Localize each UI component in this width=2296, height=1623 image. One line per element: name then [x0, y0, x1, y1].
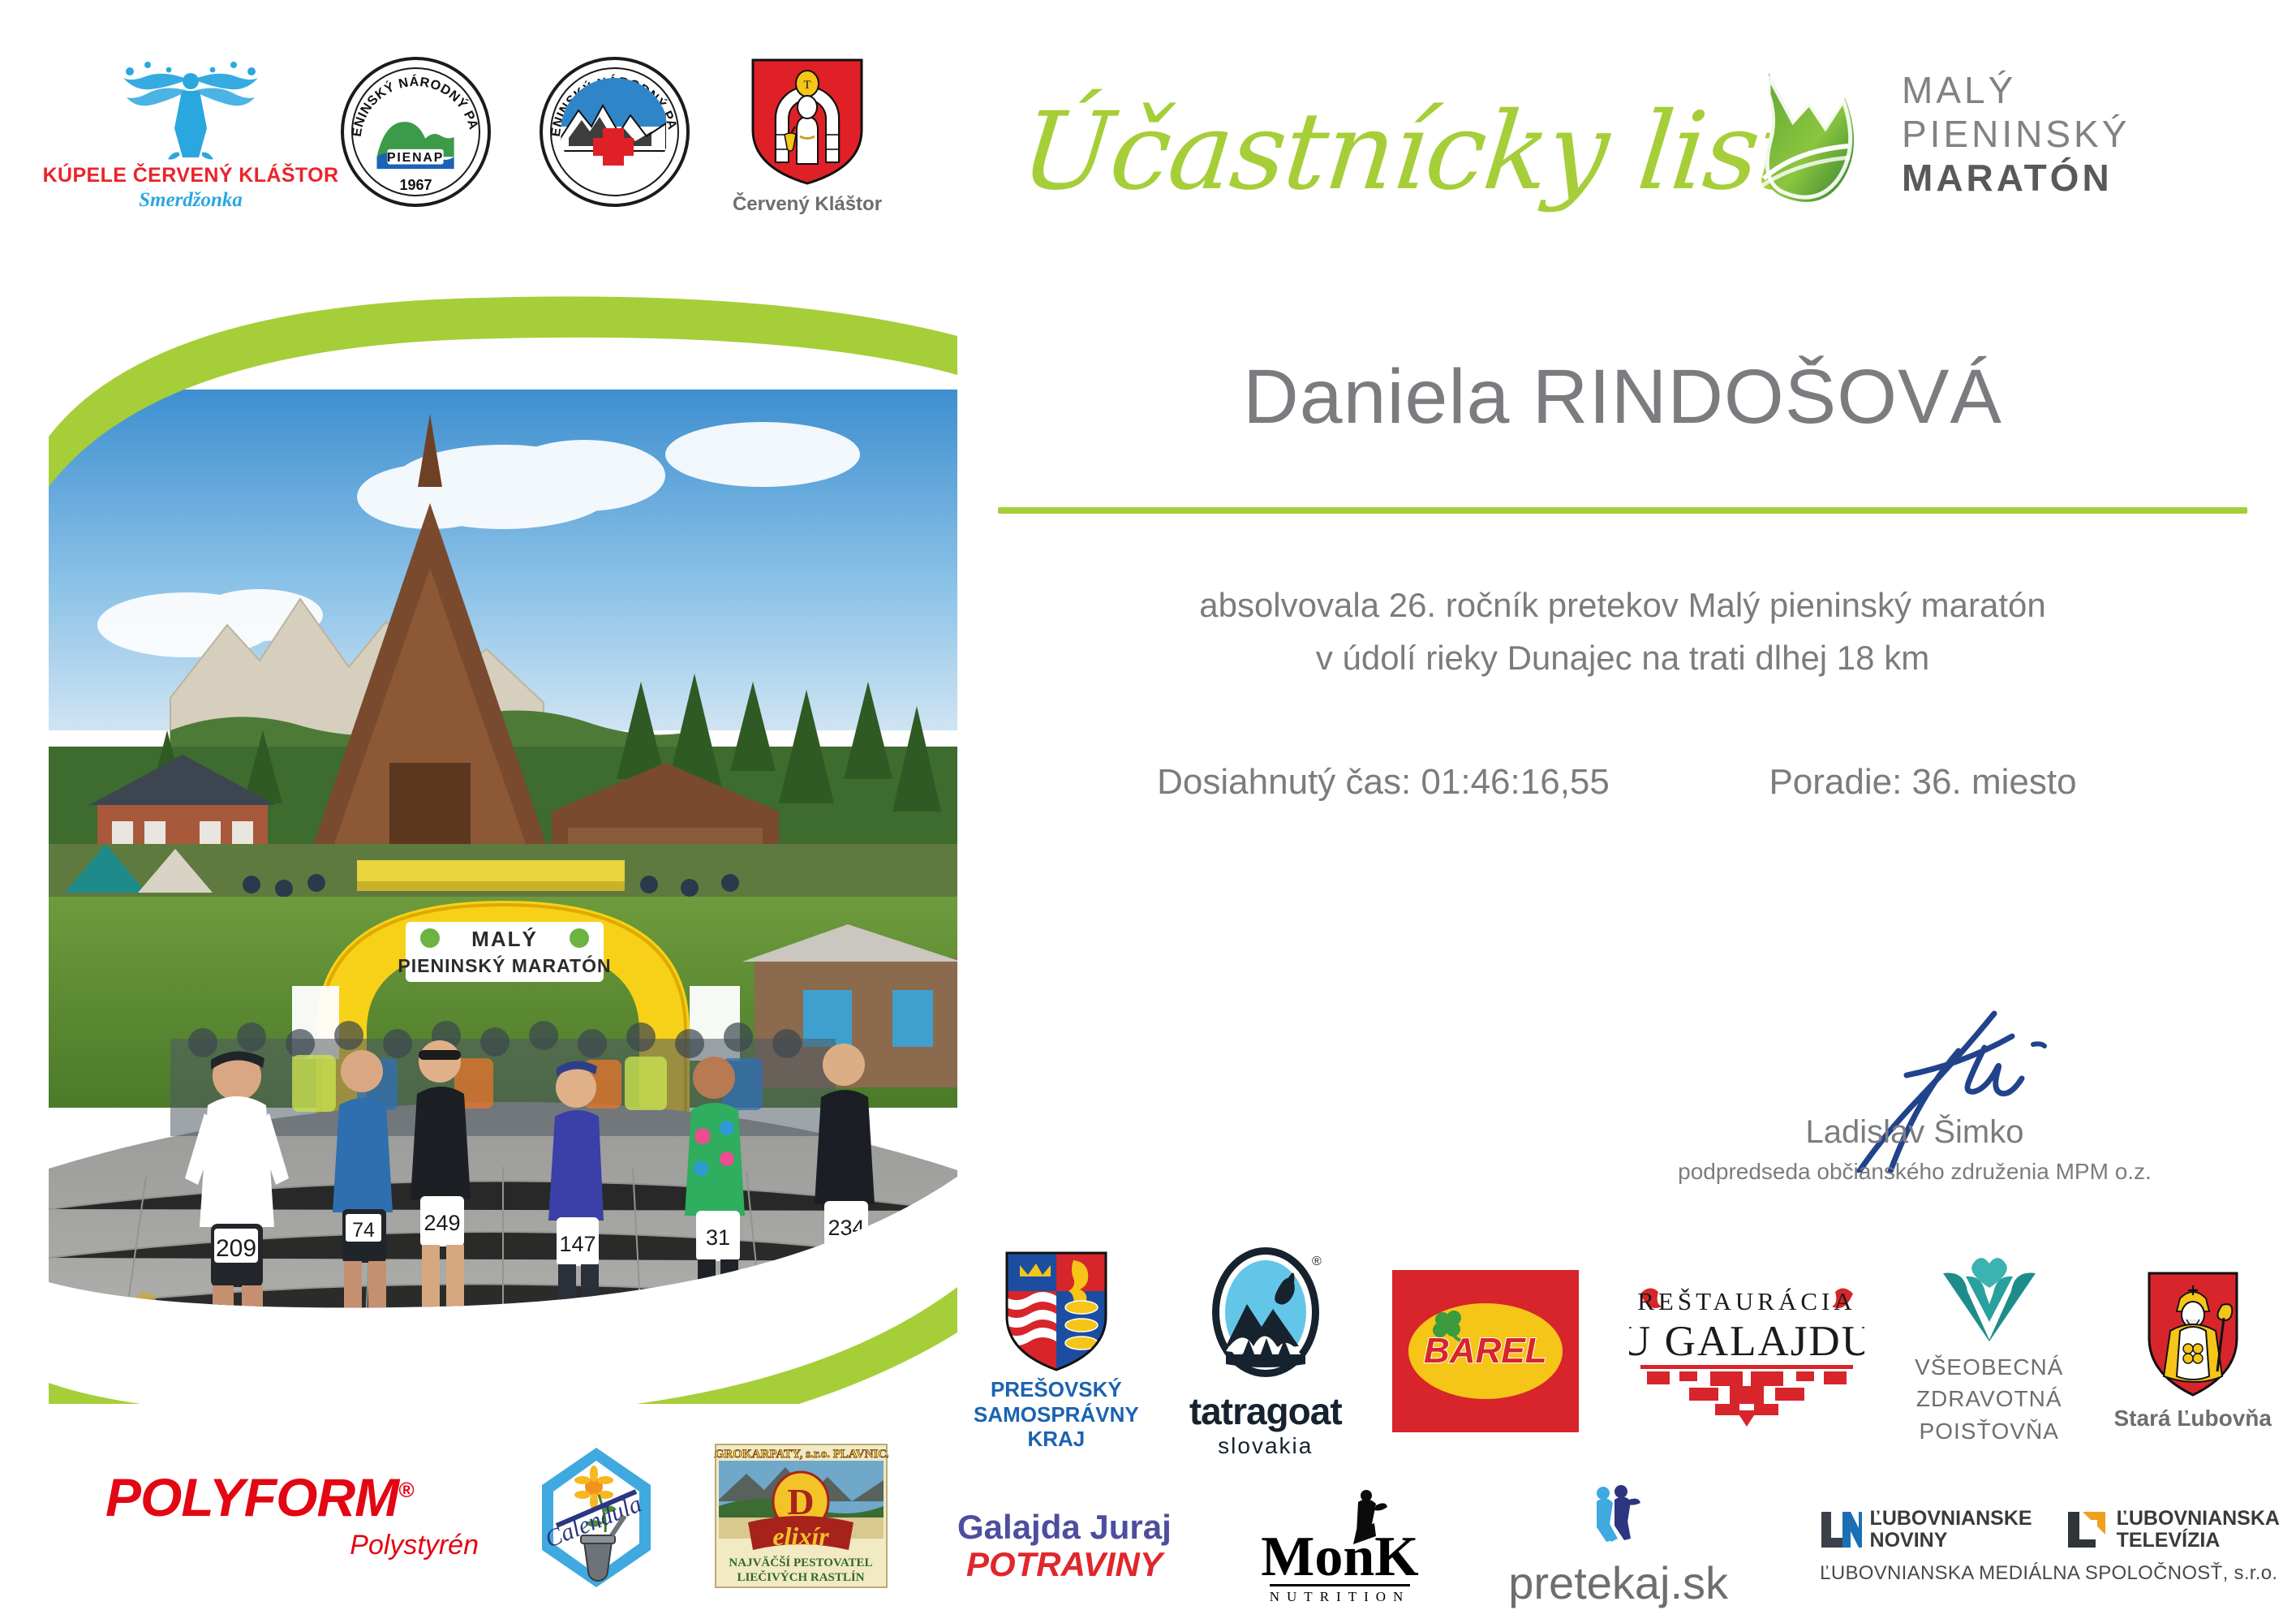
cerveny-klastor-label: Červený Kláštor — [733, 193, 882, 216]
presov-line3: KRAJ — [974, 1427, 1139, 1452]
partner-logo-pienap: PIENINSKÝ NÁRODNÝ PARK PIENAP 1967 — [341, 57, 491, 207]
svg-text:PIENAP: PIENAP — [387, 151, 444, 165]
horska-sluzba-seal-icon: PIENINSKÝ NÁRODNÝ PARK HORSKÁ SLUŽBA — [540, 57, 690, 207]
signer-name: Ladislav Šimko — [1631, 1114, 2199, 1151]
stara-lubovna-crest-icon — [2144, 1271, 2242, 1401]
lms-company-name: ĽUBOVNIANSKA MEDIÁLNA SPOLOČNOSŤ, s.r.o. — [1820, 1562, 2277, 1585]
polyform-tagline: Polystyrén — [105, 1530, 479, 1561]
partner-logo-cerveny-klastor: T Červený Kláštor — [738, 57, 876, 216]
certificate-page: KÚPELE ČERVENÝ KLÁŠTOR Smerdžonka PIENIN… — [0, 0, 2296, 1623]
sponsor-vszp: VŠEOBECNÁ ZDRAVOTNÁ POISŤOVŇA — [1915, 1255, 2063, 1447]
presov-line1: PREŠOVSKÝ — [974, 1377, 1139, 1402]
finish-time: Dosiahnutý čas: 01:46:16,55 — [1132, 762, 1635, 803]
tatragoat-icon: ® — [1205, 1244, 1326, 1386]
pienap-year: 1967 — [344, 177, 488, 194]
partner-logo-horska-sluzba: PIENINSKÝ NÁRODNÝ PARK HORSKÁ SLUŽBA — [540, 57, 690, 207]
description-line-1: absolvovala 26. ročník pretekov Malý pie… — [998, 579, 2247, 631]
lt-label: ĽUBOVNIANSKA TELEVÍZIA — [2117, 1508, 2280, 1552]
svg-text:31: 31 — [706, 1225, 730, 1250]
svg-text:147: 147 — [559, 1232, 595, 1256]
calendula-hexagon-icon: Calendula — [535, 1444, 657, 1591]
sponsor-lubovnianska-medialna: ĽUBOVNIANSKE NOVINY ĽUBOVNIANSKA TELEVÍZ… — [1818, 1508, 2280, 1585]
leaf-mountain-icon — [1744, 65, 1874, 203]
vszp-line3: POISŤOVŇA — [1915, 1415, 2063, 1447]
tatragoat-subtitle: slovakia — [1218, 1433, 1313, 1459]
svg-text:MALÝ: MALÝ — [471, 927, 538, 951]
cerveny-klastor-crest-icon: T — [746, 57, 868, 187]
svg-text:®: ® — [1312, 1255, 1322, 1268]
horska-sluzba-mountains — [561, 78, 669, 186]
tatragoat-wordmark: tatragoat — [1189, 1389, 1342, 1433]
ln-line1: ĽUBOVNIANSKE — [1870, 1508, 2032, 1530]
polyform-text: POLYFORM — [105, 1467, 398, 1527]
agrokarpaty-elixir-icon: AGROKARPATY, s.r.o. PLAVNICA D elixír NA… — [714, 1443, 888, 1589]
svg-text:LIEČIVÝCH RASTLÍN: LIEČIVÝCH RASTLÍN — [737, 1570, 864, 1584]
svg-text:PIENINSKÝ NÁRODNÝ PARK: PIENINSKÝ NÁRODNÝ PARK — [344, 60, 481, 138]
participant-name: Daniela RINDOŠOVÁ — [998, 357, 2247, 438]
clover-icon — [1430, 1308, 1467, 1345]
stara-lubovna-label: Stará Ľubovňa — [2114, 1406, 2272, 1431]
page-title: Účastnícky list — [1016, 89, 1806, 214]
sponsor-u-galajdu: REŠTAURÁCIA U GALAJDU — [1629, 1274, 1864, 1428]
svg-text:PIENINSKÝ MARATÓN: PIENINSKÝ MARATÓN — [398, 954, 611, 976]
certificate-description: absolvovala 26. ročník pretekov Malý pie… — [998, 579, 2247, 684]
sponsor-pretekaj-sk: pretekaj.sk — [1508, 1483, 1728, 1609]
presov-line2: SAMOSPRÁVNY — [974, 1402, 1139, 1427]
event-logo-line3: MARATÓN — [1902, 156, 2130, 200]
galajda-name: Galajda Juraj — [957, 1508, 1172, 1547]
certificate-body: Daniela RINDOŠOVÁ absolvovala 26. ročník… — [998, 357, 2247, 803]
svg-text:T: T — [803, 79, 810, 92]
sponsors-row-2: Galajda Juraj POTRAVINY MonK NUTRITION — [957, 1485, 2280, 1607]
event-logo-line2: PIENINSKÝ — [1902, 112, 2130, 156]
ln-label: ĽUBOVNIANSKE NOVINY — [1870, 1508, 2032, 1552]
sponsor-agrokarpaty-elixir: AGROKARPATY, s.r.o. PLAVNICA D elixír NA… — [714, 1443, 888, 1585]
sponsor-monk-nutrition: MonK NUTRITION — [1261, 1487, 1418, 1605]
lt-logo-icon — [2065, 1509, 2109, 1551]
signer-role: podpredseda občianského združenia MPM o.… — [1631, 1159, 2199, 1185]
u-galajdu-icon: REŠTAURÁCIA U GALAJDU — [1629, 1274, 1864, 1428]
event-logo-wordmark: MALÝ PIENINSKÝ MARATÓN — [1902, 68, 2130, 200]
svg-text:234: 234 — [828, 1216, 864, 1240]
lms-brands: ĽUBOVNIANSKE NOVINY ĽUBOVNIANSKA TELEVÍZ… — [1818, 1508, 2280, 1552]
partner-logo-kupele-cerveny-klastor: KÚPELE ČERVENÝ KLÁŠTOR Smerdžonka — [89, 57, 292, 212]
event-logo-line1: MALÝ — [1902, 68, 2130, 112]
monk-subtitle: NUTRITION — [1270, 1584, 1411, 1605]
sponsor-polyform: POLYFORM® Polystyrén — [105, 1466, 479, 1561]
lt-line2: TELEVÍZIA — [2117, 1530, 2280, 1552]
sponsor-calendula: Calendula — [535, 1444, 657, 1582]
ln-line2: NOVINY — [1870, 1530, 2032, 1552]
presov-region-label: PREŠOVSKÝ SAMOSPRÁVNY KRAJ — [974, 1377, 1139, 1452]
vszp-heart-icon — [1937, 1255, 2042, 1345]
svg-text:AGROKARPATY, s.r.o. PLAVNICA: AGROKARPATY, s.r.o. PLAVNICA — [714, 1448, 888, 1461]
vszp-label: VŠEOBECNÁ ZDRAVOTNÁ POISŤOVŇA — [1915, 1351, 2063, 1447]
svg-text:209: 209 — [216, 1235, 256, 1262]
svg-text:elixír: elixír — [772, 1522, 829, 1551]
registered-icon: ® — [398, 1478, 413, 1502]
svg-text:REŠTAURÁCIA: REŠTAURÁCIA — [1637, 1287, 1856, 1315]
svg-text:249: 249 — [424, 1211, 460, 1235]
svg-text:PIENINSKÝ NÁRODNÝ PARK: PIENINSKÝ NÁRODNÝ PARK — [543, 60, 680, 138]
placement: Poradie: 36. miesto — [1732, 762, 2113, 803]
race-photo: MALÝ PIENINSKÝ MARATÓN — [49, 243, 957, 1404]
sponsor-tatragoat: ® tatragoat slovakia — [1189, 1244, 1342, 1459]
monk-wordmark: MonK — [1261, 1531, 1418, 1582]
description-line-2: v údolí rieky Dunajec na trati dlhej 18 … — [998, 631, 2247, 684]
galajda-tagline: POTRAVINY — [966, 1545, 1163, 1584]
signature-block: Ladislav Šimko podpredseda občianského z… — [1631, 1010, 2199, 1185]
svg-text:74: 74 — [352, 1219, 375, 1242]
pienap-seal-icon: PIENINSKÝ NÁRODNÝ PARK PIENAP 1967 — [341, 57, 491, 207]
event-logo: MALÝ PIENINSKÝ MARATÓN — [1744, 61, 2247, 207]
svg-text:NAJVÄČŠÍ PESTOVATEL: NAJVÄČŠÍ PESTOVATEL — [729, 1556, 872, 1569]
vszp-line1: VŠEOBECNÁ — [1915, 1351, 2063, 1383]
certificate-results: Dosiahnutý čas: 01:46:16,55 Poradie: 36.… — [998, 762, 2247, 803]
sponsor-barel: BAREL — [1392, 1270, 1579, 1432]
lt-line1: ĽUBOVNIANSKA — [2117, 1508, 2280, 1530]
water-angel-icon — [97, 57, 284, 162]
sponsor-presovsky-kraj: PREŠOVSKÝ SAMOSPRÁVNY KRAJ — [974, 1251, 1139, 1452]
runners-icon — [1590, 1483, 1647, 1548]
barel-oval: BAREL — [1408, 1303, 1563, 1399]
green-swoosh-bottom — [49, 1287, 957, 1404]
svg-text:U GALAJDU: U GALAJDU — [1629, 1318, 1864, 1365]
sponsors-row-1: PREŠOVSKÝ SAMOSPRÁVNY KRAJ — [974, 1242, 2272, 1461]
lubovnianska-televizia: ĽUBOVNIANSKA TELEVÍZIA — [2065, 1508, 2280, 1552]
vszp-line2: ZDRAVOTNÁ — [1915, 1383, 2063, 1414]
sponsors-bottom-left: POLYFORM® Polystyrén — [105, 1428, 949, 1599]
sponsor-galajda-juraj: Galajda Juraj POTRAVINY — [957, 1508, 1172, 1584]
kupele-title: KÚPELE ČERVENÝ KLÁŠTOR — [43, 164, 339, 187]
barel-logo-box: BAREL — [1392, 1270, 1579, 1432]
lubovnianske-noviny: ĽUBOVNIANSKE NOVINY — [1818, 1508, 2032, 1552]
svg-text:HORSKÁ SLUŽBA: HORSKÁ SLUŽBA — [564, 144, 666, 184]
kupele-subtitle: Smerdžonka — [139, 189, 243, 212]
name-divider — [998, 507, 2247, 514]
pretekaj-wordmark: pretekaj.sk — [1508, 1556, 1728, 1609]
sponsor-stara-lubovna: Stará Ľubovňa — [2114, 1271, 2272, 1431]
ln-logo-icon — [1818, 1509, 1862, 1551]
polyform-wordmark: POLYFORM® — [105, 1466, 479, 1528]
presov-region-crest-icon — [1004, 1251, 1109, 1372]
top-partner-logos: KÚPELE ČERVENÝ KLÁŠTOR Smerdžonka PIENIN… — [89, 57, 933, 235]
